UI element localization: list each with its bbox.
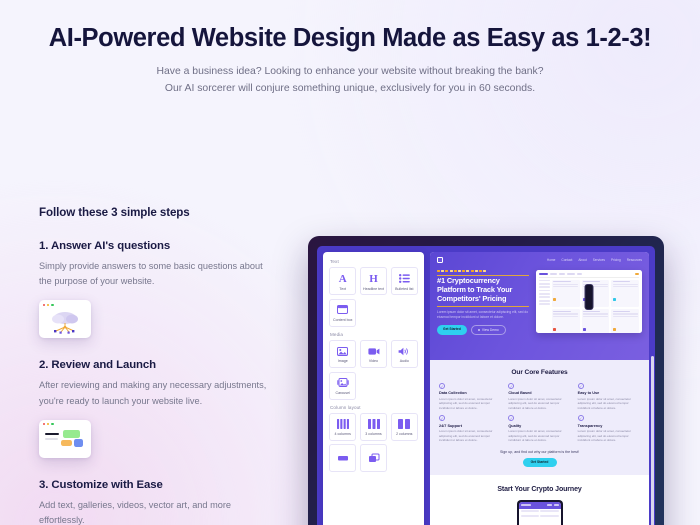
page-title: AI-Powered Website Design Made as Easy a…: [0, 24, 700, 53]
layout-blocks-icon: [43, 429, 87, 455]
three-columns-icon: [368, 418, 380, 431]
editor-tile-content-box[interactable]: Content box: [329, 299, 356, 327]
feature-item: ✓ 24/7 Support Lorem ipsum dolor sit ame…: [439, 415, 501, 442]
tile-caption: Text: [339, 287, 346, 291]
tile-caption: 3 columns: [365, 432, 381, 436]
editor-tile-image[interactable]: Image: [329, 340, 356, 368]
window-dots: [43, 304, 54, 306]
feature-item: ✓ Cloud Based Lorem ipsum dolor sit amet…: [508, 383, 570, 410]
check-circle-icon: ✓: [439, 383, 445, 389]
website-preview-canvas[interactable]: Home Contact About Services Pricing Reso…: [430, 252, 649, 525]
window-dots: [43, 423, 54, 425]
editor-tile-carousel[interactable]: Carousel: [329, 372, 356, 400]
feature-desc: Lorem ipsum dolor sit amet, consectetur …: [439, 429, 501, 443]
nav-item[interactable]: Services: [593, 258, 605, 262]
feature-desc: Lorem ipsum dolor sit amet, consectetur …: [439, 397, 501, 411]
preview-navbar: Home Contact About Services Pricing Reso…: [437, 257, 642, 263]
feature-title: Easy to Use: [578, 391, 640, 395]
feature-title: Quality: [508, 424, 570, 428]
preview-nav-items[interactable]: Home Contact About Services Pricing Reso…: [547, 258, 642, 262]
preview-logo-icon: [437, 257, 443, 263]
check-circle-icon: ✓: [508, 415, 514, 421]
preview-features-cta-button[interactable]: Get Started: [523, 458, 557, 467]
page-header: AI-Powered Website Design Made as Easy a…: [0, 0, 700, 98]
step-illustration-card: [39, 420, 91, 458]
steps-column: Follow these 3 simple steps 1. Answer AI…: [39, 206, 289, 525]
editor-section-label: Media: [330, 332, 418, 337]
tile-caption: Video: [369, 359, 378, 363]
steps-kicker: Follow these 3 simple steps: [39, 206, 289, 219]
subtitle-line-2: Our AI sorcerer will conjure something u…: [165, 83, 535, 94]
editor-section-text: Text A Text H Headline text: [329, 259, 418, 327]
preview-journey-phone-mockup: [517, 500, 563, 525]
preview-features-section: Our Core Features ✓ Data Collection Lore…: [430, 360, 649, 475]
feature-desc: Lorem ipsum dolor sit amet, consectetur …: [508, 429, 570, 443]
preview-dashboard-mockup: [536, 270, 642, 333]
preview-features-grid: ✓ Data Collection Lorem ipsum dolor sit …: [439, 383, 640, 443]
tablet-screen: Text A Text H Headline text: [317, 246, 655, 525]
check-circle-icon: ✓: [578, 415, 584, 421]
four-columns-icon: [337, 418, 349, 431]
preview-features-title: Our Core Features: [439, 369, 640, 376]
tablet-device-frame: Text A Text H Headline text: [308, 236, 664, 525]
check-circle-icon: ✓: [508, 383, 514, 389]
nav-item[interactable]: Pricing: [611, 258, 621, 262]
decorative-tag-bar: [437, 270, 529, 272]
tile-caption: Carousel: [336, 391, 350, 395]
feature-desc: Lorem ipsum dolor sit amet, consectetur …: [578, 429, 640, 443]
main-stage: Follow these 3 simple steps 1. Answer AI…: [0, 98, 700, 525]
letter-h-icon: H: [369, 272, 378, 285]
content-box-icon: [337, 303, 348, 316]
preview-scrollbar[interactable]: [651, 356, 654, 525]
editor-elements-panel[interactable]: Text A Text H Headline text: [323, 252, 424, 525]
feature-title: Cloud Based: [508, 391, 570, 395]
button-label: View Demo: [482, 328, 499, 332]
single-block-icon: [337, 451, 349, 464]
check-circle-icon: ✓: [439, 415, 445, 421]
editor-tile-headline-text[interactable]: H Headline text: [360, 267, 387, 295]
editor-tile-single-block[interactable]: [329, 444, 356, 472]
feature-item: ✓ Transparency Lorem ipsum dolor sit ame…: [578, 415, 640, 442]
feature-item: ✓ Quality Lorem ipsum dolor sit amet, co…: [508, 415, 570, 442]
tile-caption: Bulleted list: [395, 287, 413, 291]
preview-phone-overlay: [585, 284, 594, 310]
preview-hero-headline: #1 Cryptocurrency Platform to Track Your…: [437, 275, 529, 307]
two-columns-icon: [398, 418, 410, 431]
editor-tile-3-columns[interactable]: 3 columns: [360, 413, 387, 441]
tile-caption: Headline text: [363, 287, 384, 291]
step-title: 3. Customize with Ease: [39, 479, 289, 491]
step-description: Add text, galleries, videos, vector art,…: [39, 498, 267, 525]
tile-caption: Image: [338, 359, 348, 363]
editor-tile-bulleted-list[interactable]: Bulleted list: [391, 267, 418, 295]
feature-item: ✓ Easy to Use Lorem ipsum dolor sit amet…: [578, 383, 640, 410]
preview-hero-paragraph: Lorem ipsum dolor sit amet, consectetur …: [437, 310, 529, 320]
editor-tile-stacked-blocks[interactable]: [360, 444, 387, 472]
nav-item[interactable]: Resources: [627, 258, 642, 262]
feature-title: 24/7 Support: [439, 424, 501, 428]
preview-journey-title: Start Your Crypto Journey: [430, 486, 649, 493]
step-description: After reviewing and making any necessary…: [39, 378, 267, 408]
editor-section-media: Media Image: [329, 332, 418, 400]
step-description: Simply provide answers to some basic que…: [39, 259, 267, 289]
preview-journey-section: Start Your Crypto Journey: [430, 475, 649, 525]
speaker-audio-icon: [398, 345, 410, 358]
check-circle-icon: ✓: [578, 383, 584, 389]
step-item-2: 2. Review and Launch After reviewing and…: [39, 359, 289, 457]
step-item-3: 3. Customize with Ease Add text, galleri…: [39, 479, 289, 525]
video-camera-icon: [368, 345, 380, 358]
step-title: 2. Review and Launch: [39, 359, 289, 371]
preview-get-started-button[interactable]: Get Started: [437, 325, 467, 335]
page-subtitle: Have a business idea? Looking to enhance…: [0, 64, 700, 98]
bulleted-list-icon: [399, 272, 410, 285]
editor-tile-video[interactable]: Video: [360, 340, 387, 368]
tile-caption: Content box: [333, 318, 352, 322]
feature-title: Transparency: [578, 424, 640, 428]
feature-desc: Lorem ipsum dolor sit amet, consectetur …: [578, 397, 640, 411]
editor-tile-audio[interactable]: Audio: [391, 340, 418, 368]
tile-caption: 4 columns: [335, 432, 351, 436]
editor-tile-2-columns[interactable]: 2 columns: [391, 413, 418, 441]
nav-item[interactable]: Contact: [561, 258, 572, 262]
preview-view-demo-button[interactable]: View Demo: [471, 325, 506, 335]
step-item-1: 1. Answer AI's questions Simply provide …: [39, 240, 289, 338]
step-title: 1. Answer AI's questions: [39, 240, 289, 252]
carousel-icon: [337, 376, 349, 389]
preview-hero-section: Home Contact About Services Pricing Reso…: [430, 252, 649, 360]
image-icon: [337, 345, 348, 358]
feature-item: ✓ Data Collection Lorem ipsum dolor sit …: [439, 383, 501, 410]
step-illustration-card: [39, 300, 91, 338]
tile-caption: 2 columns: [396, 432, 412, 436]
subtitle-line-1: Have a business idea? Looking to enhance…: [156, 66, 543, 77]
feature-title: Data Collection: [439, 391, 501, 395]
preview-hero-copy: #1 Cryptocurrency Platform to Track Your…: [437, 270, 529, 335]
editor-section-label: Column layout: [330, 405, 418, 410]
feature-desc: Lorem ipsum dolor sit amet, consectetur …: [508, 397, 570, 411]
ai-cloud-network-icon: [48, 310, 82, 336]
nav-item[interactable]: Home: [547, 258, 556, 262]
editor-tile-text[interactable]: A Text: [329, 267, 356, 295]
stacked-blocks-icon: [368, 451, 380, 464]
editor-tile-4-columns[interactable]: 4 columns: [329, 413, 356, 441]
editor-section-label: Text: [330, 259, 418, 264]
nav-item[interactable]: About: [578, 258, 586, 262]
editor-section-column-layout: Column layout 4 columns: [329, 405, 418, 473]
play-dot-icon: [478, 329, 481, 332]
letter-a-icon: A: [339, 272, 347, 285]
tile-caption: Audio: [400, 359, 409, 363]
preview-signup-text: Sign up, and find out why our platform i…: [439, 450, 640, 454]
